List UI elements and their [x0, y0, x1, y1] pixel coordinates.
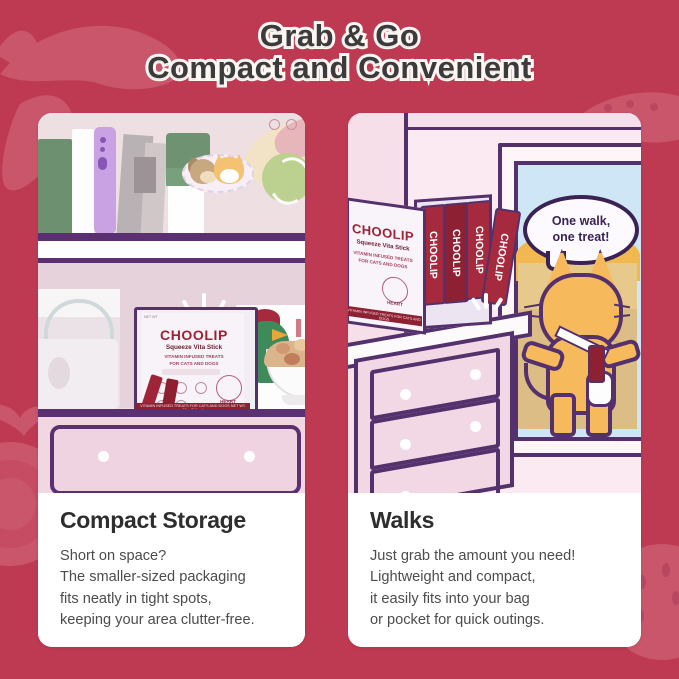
card-text-walks: Walks Just grab the amount you need! Lig… [348, 493, 641, 647]
ceiling-line [408, 113, 641, 130]
shelf-divider [38, 233, 305, 241]
product-tagline: Squeeze Vita Stick [142, 344, 246, 351]
poster-canvas: Grab & Go Compact and Convenient [0, 0, 679, 679]
bag-label-icon [48, 357, 70, 389]
shelf-gap [38, 241, 305, 258]
drawer-knob [470, 421, 481, 432]
page-title: Grab & Go Compact and Convenient [0, 20, 679, 84]
white-bottle-icon [72, 129, 94, 234]
title-line-2: Compact and Convenient [0, 52, 679, 84]
illustration-shelf-scene: NET WT CHOOLIP Squeeze Vita Stick VITAMI… [38, 113, 305, 493]
certification-icon [269, 119, 280, 130]
illustration-entryway-scene: One walk, one treat! [348, 113, 641, 493]
title-line-1: Grab & Go [0, 20, 679, 52]
drawer-knob [470, 369, 481, 380]
treat-stick-label: CHOOLIP [427, 231, 439, 280]
sparkle-icon [484, 293, 488, 309]
card-title: Compact Storage [60, 507, 283, 534]
feature-icon [195, 382, 207, 394]
tube-cap-icon [134, 157, 156, 193]
treat-stick-held [588, 345, 605, 383]
card-text-compact-storage: Compact Storage Short on space? The smal… [38, 493, 305, 647]
drawer-knob [400, 389, 411, 400]
speech-bubble-text: One walk, one treat! [552, 214, 610, 245]
product-box-corner-icons [267, 117, 297, 135]
bottle-dot-icon [100, 147, 105, 152]
card-title: Walks [370, 507, 619, 534]
bowl-base-icon [282, 395, 305, 405]
drawer-knob [98, 451, 109, 462]
cat-muzzle-icon [220, 169, 239, 183]
product-subtitle: VITAMIN INFUSED TREATS FOR CATS AND DOGS [142, 354, 246, 367]
treat-stick-label: CHOOLIP [491, 232, 510, 281]
product-ingredient-strip [162, 369, 220, 375]
speech-bubble: One walk, one treat! [523, 195, 639, 265]
treat-stick-label: CHOOLIP [450, 229, 462, 278]
card-compact-storage[interactable]: NET WT CHOOLIP Squeeze Vita Stick VITAMI… [38, 113, 305, 647]
certification-icon [286, 119, 297, 130]
card-body: Just grab the amount you need! Lightweig… [370, 546, 619, 632]
product-brand-name: CHOOLIP [146, 327, 242, 343]
drawer-knob [400, 439, 411, 450]
green-bottle-icon [38, 139, 72, 234]
drawer-face [50, 425, 301, 493]
cat-leg-left [550, 393, 576, 437]
drawer-knob [244, 451, 255, 462]
kibble-icon [294, 339, 305, 351]
card-walks[interactable]: One walk, one treat! [348, 113, 641, 647]
bottle-dot-icon [100, 137, 106, 143]
card-body: Short on space? The smaller-sized packag… [60, 546, 283, 632]
heart-badge-icon [216, 375, 242, 401]
kibble-icon [276, 343, 290, 354]
kibble-icon [284, 353, 300, 365]
treat-stick-label: CHOOLIP [473, 226, 485, 275]
product-box-top-label: NET WT [144, 315, 158, 319]
purple-bottle-icon [94, 127, 116, 234]
poster-bar-icon [296, 319, 301, 337]
bottle-dot-icon [98, 157, 107, 170]
